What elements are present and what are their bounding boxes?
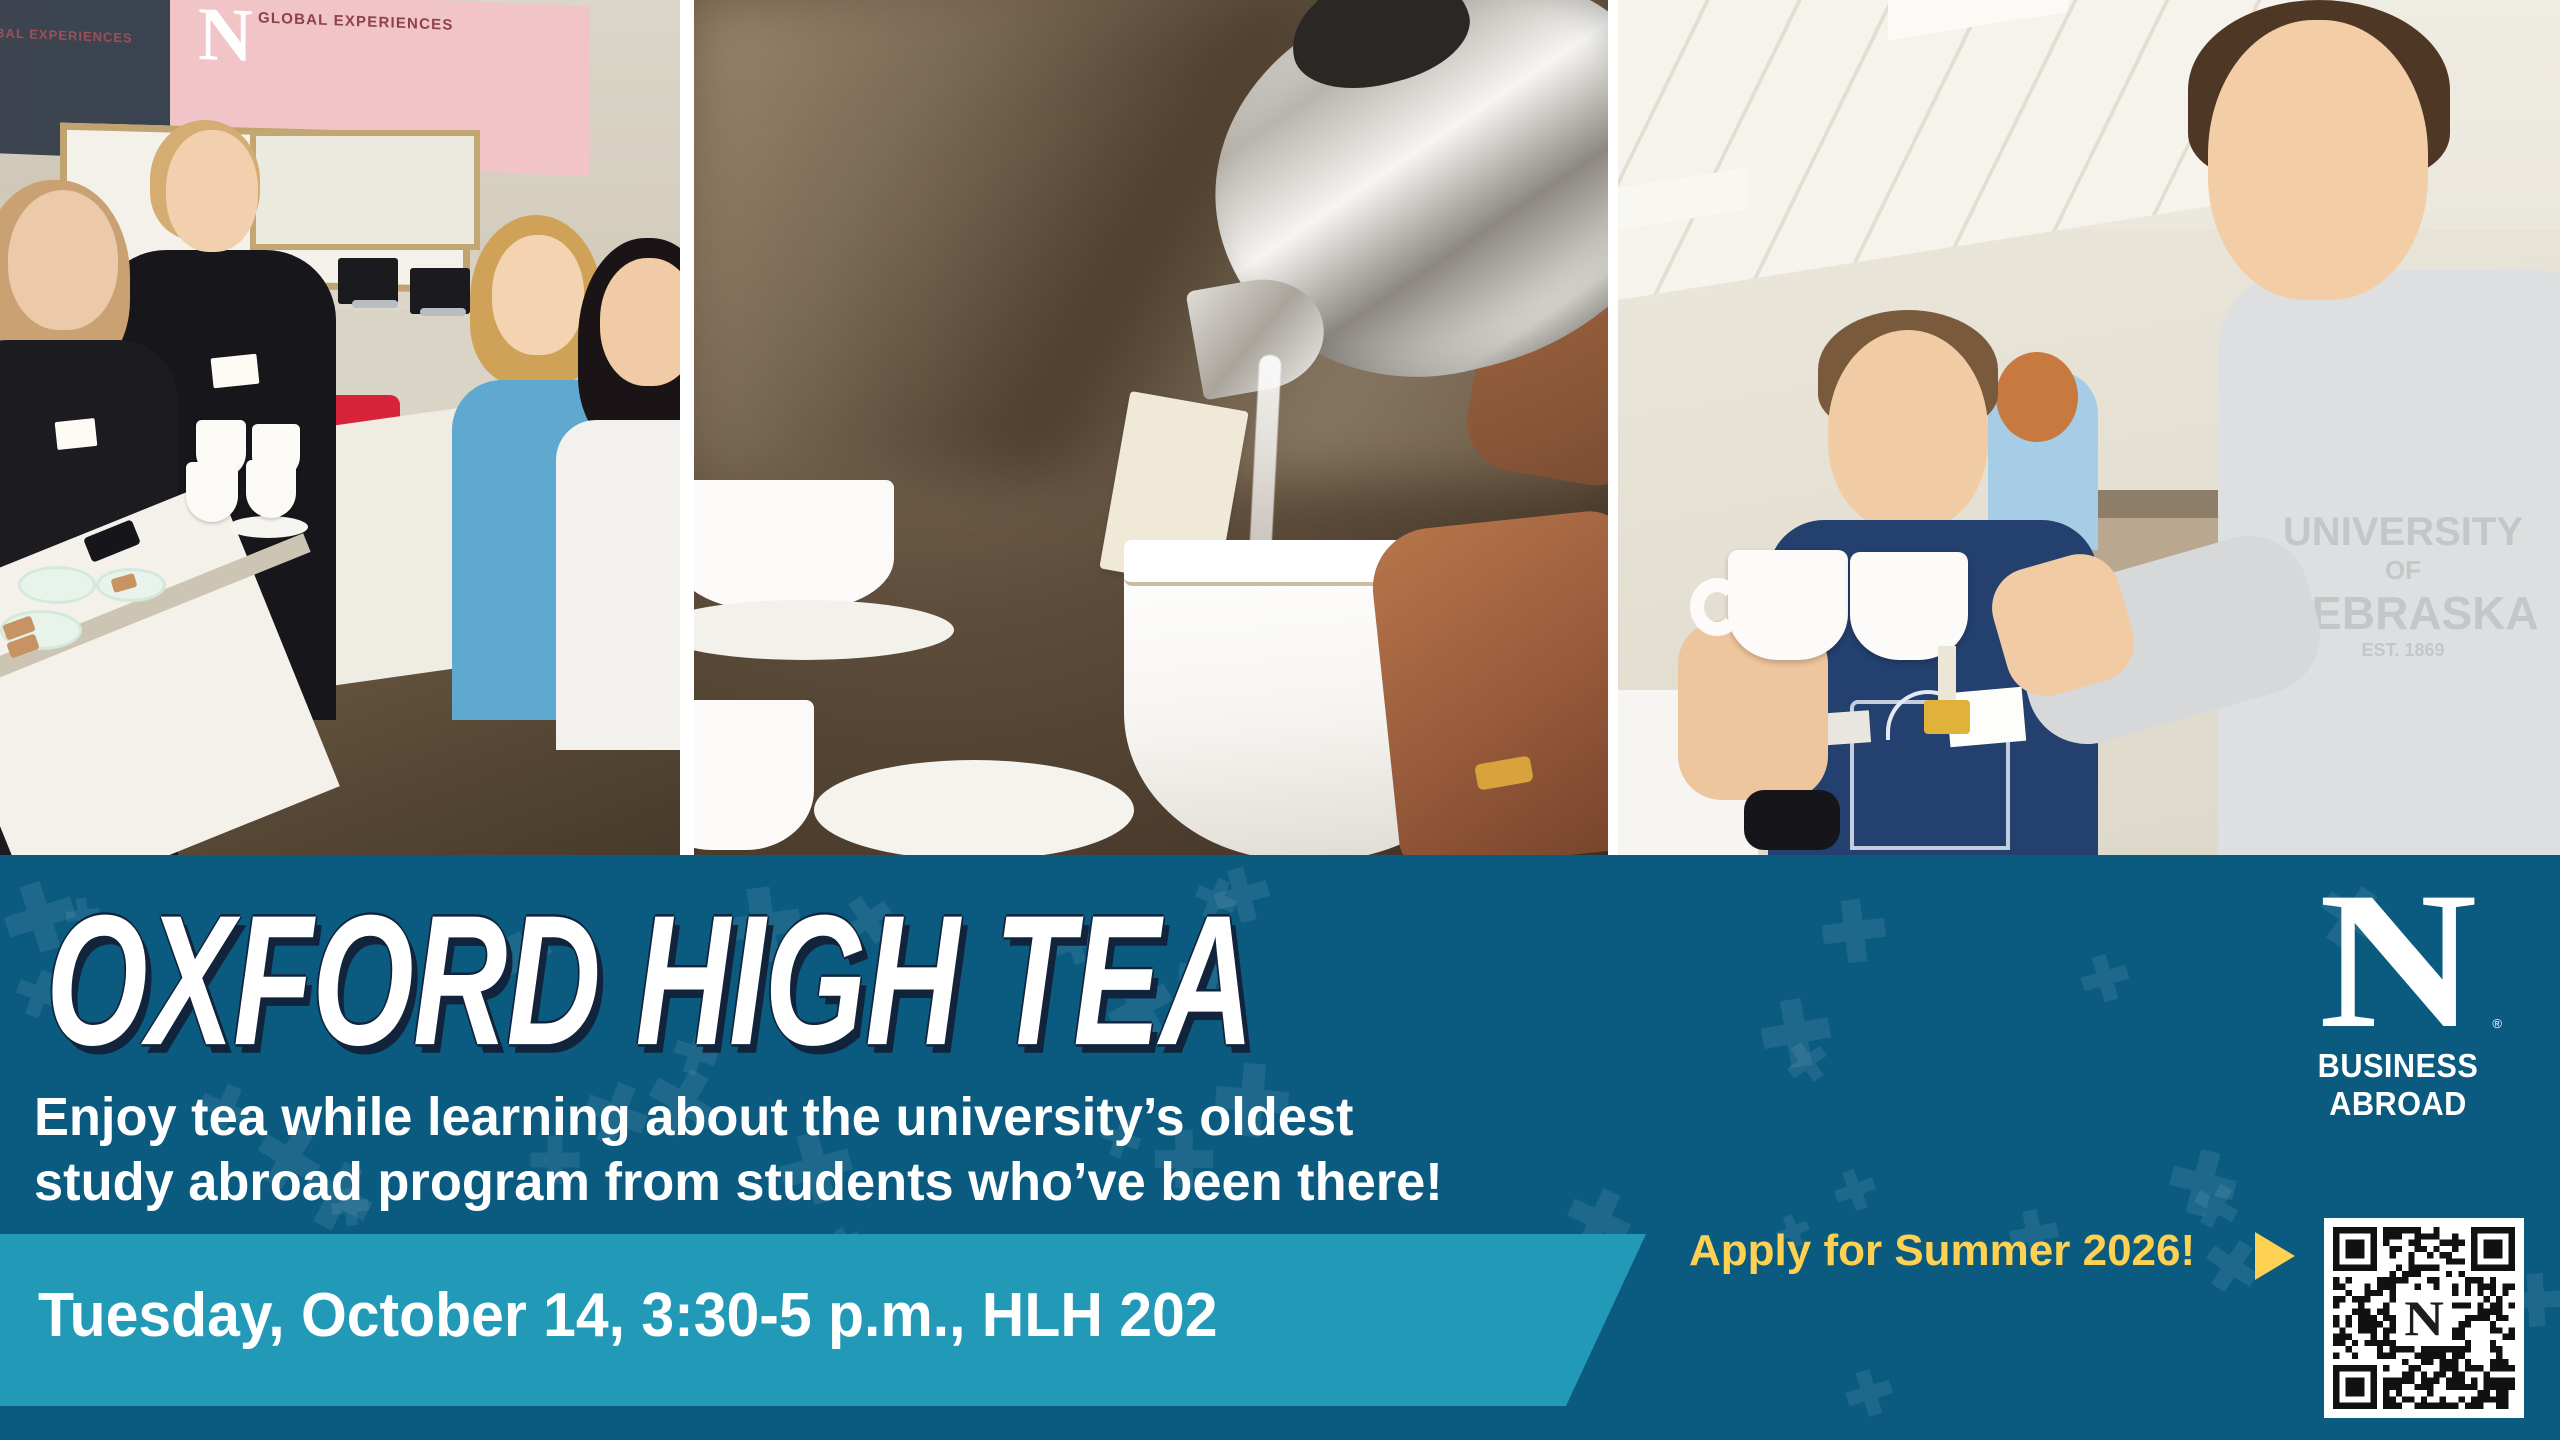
event-details-banner: Tuesday, October 14, 3:30-5 p.m., HLH 20… bbox=[0, 1234, 1700, 1406]
play-arrow-icon[interactable] bbox=[2255, 1232, 2295, 1280]
plus-watermark bbox=[1819, 896, 1889, 966]
plus-watermark bbox=[1841, 1365, 1898, 1422]
screen-text-secondary: GLOBAL EXPERIENCES bbox=[0, 24, 133, 45]
nebraska-business-abroad-logo: N ® BUSINESS ABROAD bbox=[2300, 899, 2496, 1083]
registered-trademark-icon: ® bbox=[2492, 1016, 2502, 1031]
screen-n-logo: N bbox=[198, 0, 244, 75]
subtitle-line-1: Enjoy tea while learning about the unive… bbox=[34, 1085, 1683, 1150]
page-title: OXFORD HIGH TEA bbox=[46, 888, 1253, 1073]
subtitle-text: Enjoy tea while learning about the unive… bbox=[34, 1085, 1683, 1216]
qr-center-logo: N bbox=[2396, 1290, 2452, 1346]
logo-unit-label: BUSINESS ABROAD bbox=[2275, 1047, 2521, 1123]
photo-teapot-pouring bbox=[694, 0, 1608, 855]
nebraska-n-glyph: N bbox=[2288, 863, 2508, 1059]
subtitle-line-2: study abroad program from students who’v… bbox=[34, 1150, 1683, 1215]
nebraska-n-icon: N ® bbox=[2300, 899, 2496, 1033]
poster-canvas: N GLOBAL EXPERIENCES GLOBAL EXPERIENCES bbox=[0, 0, 2560, 1440]
photo-students-toasting: N GLOBAL EXPERIENCES GLOBAL EXPERIENCES bbox=[0, 0, 680, 855]
photo-strip: N GLOBAL EXPERIENCES GLOBAL EXPERIENCES bbox=[0, 0, 2560, 855]
plus-watermark bbox=[2076, 949, 2133, 1006]
apply-cta-text[interactable]: Apply for Summer 2026! bbox=[1689, 1226, 2195, 1276]
photo-students-cheers: UNIVERSITY OF NEBRASKA EST. 1869 bbox=[1618, 0, 2560, 855]
plus-watermark bbox=[1829, 1164, 1881, 1216]
qr-code-icon[interactable]: N bbox=[2324, 1218, 2524, 1418]
event-details-text: Tuesday, October 14, 3:30-5 p.m., HLH 20… bbox=[38, 1280, 1217, 1351]
